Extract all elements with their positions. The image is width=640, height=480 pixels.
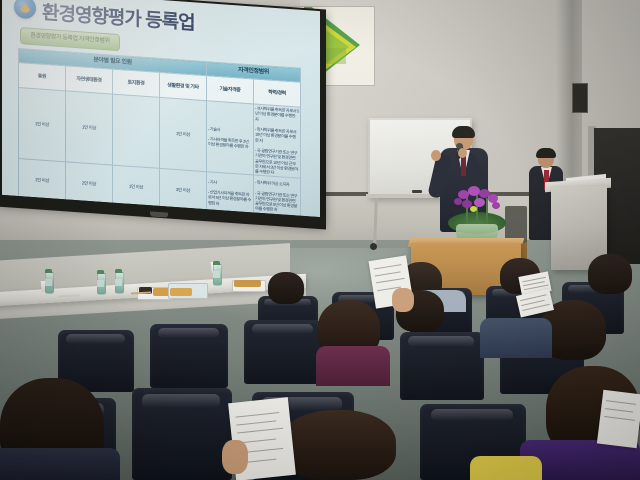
seat-highlight [142,394,220,409]
seat-highlight [158,328,219,338]
seat-highlight [66,334,125,344]
person-hair [268,272,304,304]
cell-tech: - 기술사 - 기사자격을 취득한 후 2년 이상 환경분야를 수행한 자 [207,101,254,176]
presentation-slide: 환경영향평가 등록업 환경영향평가 등록업 자격인정범위 분야별 필요 인원 자… [2,0,320,217]
whiteboard-marker-icon [412,190,422,193]
cell-total: 1인 이상 [19,88,66,163]
doc-text-line [236,420,276,425]
audience-person-shoulders [480,318,552,358]
seat[interactable] [132,388,232,480]
audience-person [588,254,632,294]
handout-document [597,390,640,448]
audience-person [280,410,396,480]
bottle-label [97,280,104,287]
snack-golden [234,280,261,287]
orchid-petal [454,198,462,205]
cell-edu: - 석사학위를 취득한 자로서 5년 이상 환경분야를 수행한 자 - 학사학위… [254,104,301,179]
snack-golden [153,288,169,296]
whiteboard-caster-icon [370,243,377,250]
doc-text-line [604,416,635,421]
person-jacket-yellow [470,456,542,480]
speaker-hand-holding-mic [458,148,467,158]
seat[interactable] [244,320,322,384]
seat-highlight [431,409,514,421]
doc-text-line [237,428,283,434]
seat-highlight [408,336,474,347]
doc-text-line [375,271,401,276]
orchid-petal [492,202,500,209]
cell-land [113,94,160,169]
bottle-cap-icon [45,269,52,273]
speaker-hand-raised [431,150,441,161]
audience-person-shoulders [0,448,120,480]
subheader-total: 총원 [19,63,66,91]
seat[interactable] [400,332,484,400]
seat[interactable] [150,324,228,388]
wall-speaker-icon [572,83,588,113]
doc-text-line [605,408,633,412]
person-hair [588,254,632,294]
presentation-logo-icon [14,0,36,19]
doc-text-line [236,412,280,418]
projection-screen-surface: 환경영향평가 등록업 환경영향평가 등록업 자격인정범위 분야별 필요 인원 자… [2,0,320,217]
hand-holding-document [392,288,414,312]
person-jacket [0,448,120,480]
bottle-cap-icon [213,261,220,265]
bottle-cap-icon [115,269,122,273]
subheader-nature: 자연생태환경 [66,66,113,94]
audience-person-shoulders [470,456,542,480]
bottle-label [45,279,52,286]
bottle-label [115,279,122,286]
bottle-cap-icon [97,270,104,274]
hand-holding-document [222,440,248,474]
bottle-label [213,271,220,278]
subheader-edu: 학력/경력 [254,79,301,107]
cell-nature: 1인 이상 [66,91,113,166]
audience-person [268,272,304,304]
projection-screen-frame: 환경영향평가 등록업 환경영향평가 등록업 자격인정범위 분야별 필요 인원 자… [0,0,326,226]
subheader-cert: 기술자격증 [207,76,254,104]
subheader-living: 생활환경 및 기타 [160,72,207,100]
slide-section-pill: 환경영향평가 등록업 자격인정범위 [20,27,120,51]
person-jacket [480,318,552,358]
cell-edu: - 학사학위 이상 소지자 - 국·공립연구기관 또는 연구기관의 연구원 및 … [254,175,301,217]
doc-text-line [374,264,402,269]
accent-bloom [470,206,477,212]
lecture-hall-photo: 수회 구전탁토론 고급 환경공학과 환경영향평가 등록업 환경영향평가 등록업 … [0,0,640,480]
man2-hair [536,148,556,158]
slide-table: 분야별 필요 인원 자격인정범위 총원 자연생태환경 토지환경 생활환경 및 기… [18,48,301,217]
doc-text-line [376,278,405,284]
seat-highlight [252,324,313,334]
subheader-land: 토지환경 [113,69,160,97]
doc-text-line [606,400,636,405]
person-jacket [316,346,390,386]
audience-person-shoulders [316,346,390,386]
person-hair [280,410,396,480]
speaker-hair [452,126,475,138]
orchid-arrangement [440,186,512,246]
flower-stem [486,198,488,226]
cell-living: 1인 이상 [160,97,207,172]
snack-golden [170,288,192,296]
